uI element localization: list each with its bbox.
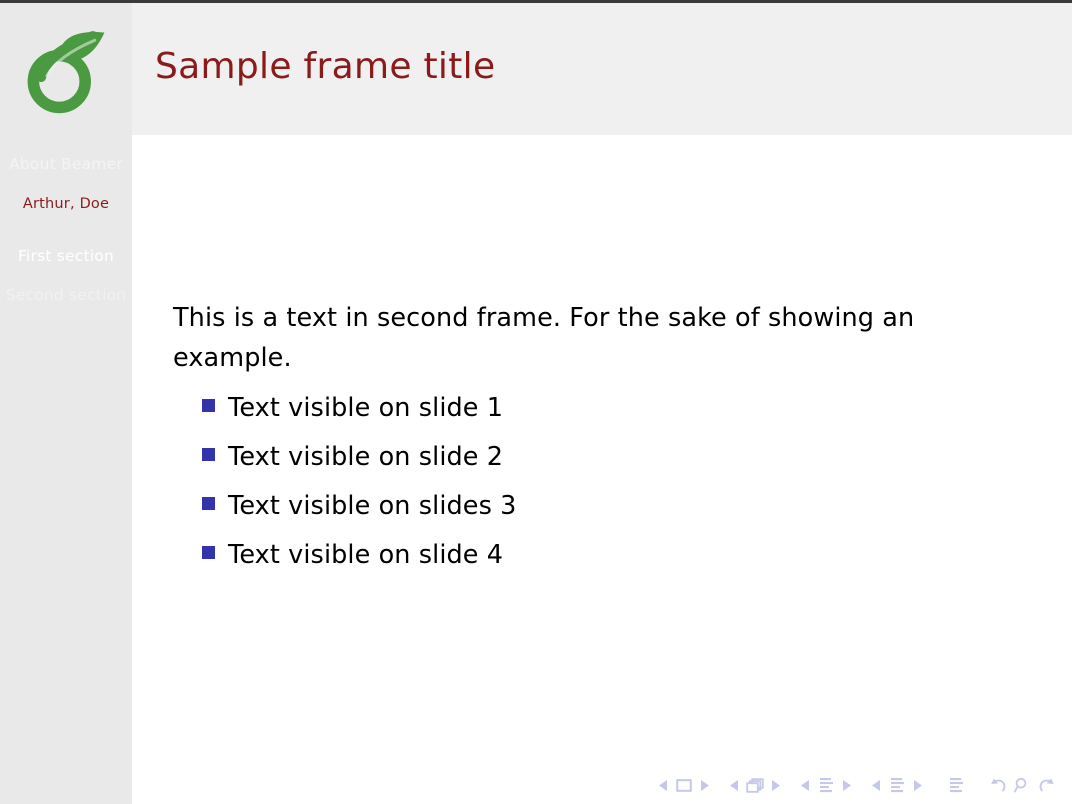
list-item: Text visible on slide 4 [173,540,973,589]
slide-icon[interactable] [673,775,695,795]
sidebar-item-author[interactable]: Arthur, Doe [0,193,132,215]
section-icon[interactable] [886,775,908,795]
sidebar-item-second-section[interactable]: Second section [0,284,132,307]
search-icon[interactable] [1011,775,1033,795]
body-paragraph: This is a text in second frame. For the … [173,298,973,378]
prev-frame-button[interactable] [726,775,743,795]
sidebar-item-about-beamer[interactable]: About Beamer [0,153,132,176]
subsection-icon[interactable] [815,775,837,795]
list-item-label: Text visible on slide 4 [228,540,503,570]
list-item: Text visible on slide 1 [173,393,973,442]
prev-section-button[interactable] [868,775,885,795]
list-item-label: Text visible on slides 3 [228,491,517,521]
next-subsection-button[interactable] [838,775,855,795]
sidebar-nav: About Beamer Arthur, Doe First section S… [0,153,132,323]
sidebar: About Beamer Arthur, Doe First section S… [0,3,132,804]
bullet-square-icon [202,448,215,461]
beamer-navigation-bar[interactable] [655,774,1058,796]
next-slide-button[interactable] [696,775,713,795]
beamer-slide: About Beamer Arthur, Doe First section S… [0,0,1072,804]
list-item: Text visible on slide 2 [173,442,973,491]
bullet-square-icon [202,546,215,559]
bullet-square-icon [202,399,215,412]
nav-group-section[interactable] [868,775,926,795]
next-section-button[interactable] [909,775,926,795]
back-arrow-icon[interactable] [987,775,1009,795]
bullet-square-icon [202,497,215,510]
next-frame-button[interactable] [767,775,784,795]
itemize-list: Text visible on slide 1 Text visible on … [173,393,973,589]
nav-group-subsection[interactable] [797,775,855,795]
forward-arrow-icon[interactable] [1035,775,1057,795]
list-item-label: Text visible on slide 2 [228,442,503,472]
frame-title: Sample frame title [155,47,495,87]
list-item: Text visible on slides 3 [173,491,973,540]
prev-slide-button[interactable] [655,775,672,795]
prev-subsection-button[interactable] [797,775,814,795]
frame-body: This is a text in second frame. For the … [132,135,1072,804]
overleaf-leaf-logo [0,11,132,129]
frame-icon[interactable] [744,775,766,795]
nav-group-frame[interactable] [726,775,784,795]
document-icon[interactable] [945,775,967,795]
list-item-label: Text visible on slide 1 [228,393,503,423]
nav-group-slide[interactable] [655,775,713,795]
sidebar-item-first-section[interactable]: First section [0,245,132,268]
